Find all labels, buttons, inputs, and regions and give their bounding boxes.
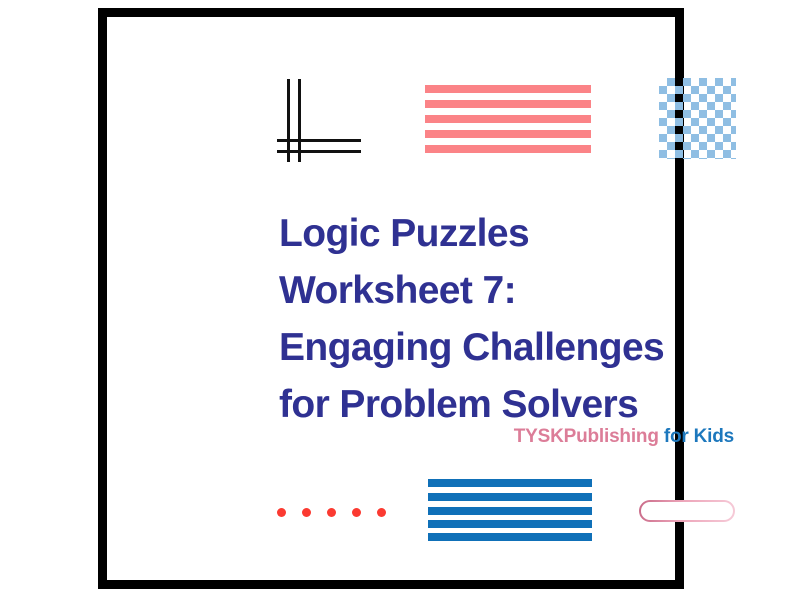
blue-stripe bbox=[428, 479, 592, 487]
page-title-line-4: for Problem Solvers bbox=[279, 376, 749, 433]
poster-frame: Logic Puzzles Worksheet 7: Engaging Chal… bbox=[98, 8, 684, 589]
blue-stripe bbox=[428, 520, 592, 528]
salmon-stripe bbox=[425, 100, 591, 108]
red-dot bbox=[377, 508, 386, 517]
blue-stripe bbox=[428, 507, 592, 515]
salmon-stripe bbox=[425, 115, 591, 123]
brand-publisher: TYSKPublishing bbox=[514, 426, 659, 447]
salmon-stripe bbox=[425, 145, 591, 153]
brand-audience: for Kids bbox=[659, 426, 734, 447]
crossing-lines-horizontal-2 bbox=[277, 150, 361, 153]
page-title-line-2: Worksheet 7: bbox=[279, 262, 749, 319]
dots-row-icon bbox=[277, 508, 387, 520]
poster-canvas: Logic Puzzles Worksheet 7: Engaging Chal… bbox=[0, 0, 800, 600]
red-dot bbox=[327, 508, 336, 517]
red-dot bbox=[352, 508, 361, 517]
salmon-stripes-icon bbox=[425, 85, 591, 153]
brand-line: TYSKPublishing for Kids bbox=[279, 426, 734, 448]
salmon-stripe bbox=[425, 130, 591, 138]
crossing-lines-icon bbox=[277, 79, 377, 164]
pill-outline-inner bbox=[641, 502, 733, 520]
crossing-lines-horizontal-1 bbox=[277, 139, 361, 142]
blue-stripe bbox=[428, 493, 592, 501]
pill-outline-icon bbox=[639, 500, 735, 522]
page-title-line-1: Logic Puzzles bbox=[279, 205, 749, 262]
blue-stripes-icon bbox=[428, 479, 592, 541]
checkerboard-icon bbox=[659, 78, 736, 159]
red-dot bbox=[277, 508, 286, 517]
red-dot bbox=[302, 508, 311, 517]
page-title-line-3: Engaging Challenges bbox=[279, 319, 749, 376]
poster-frame-inner: Logic Puzzles Worksheet 7: Engaging Chal… bbox=[107, 17, 675, 580]
blue-stripe bbox=[428, 533, 592, 541]
salmon-stripe bbox=[425, 85, 591, 93]
page-title: Logic Puzzles Worksheet 7: Engaging Chal… bbox=[279, 205, 749, 433]
